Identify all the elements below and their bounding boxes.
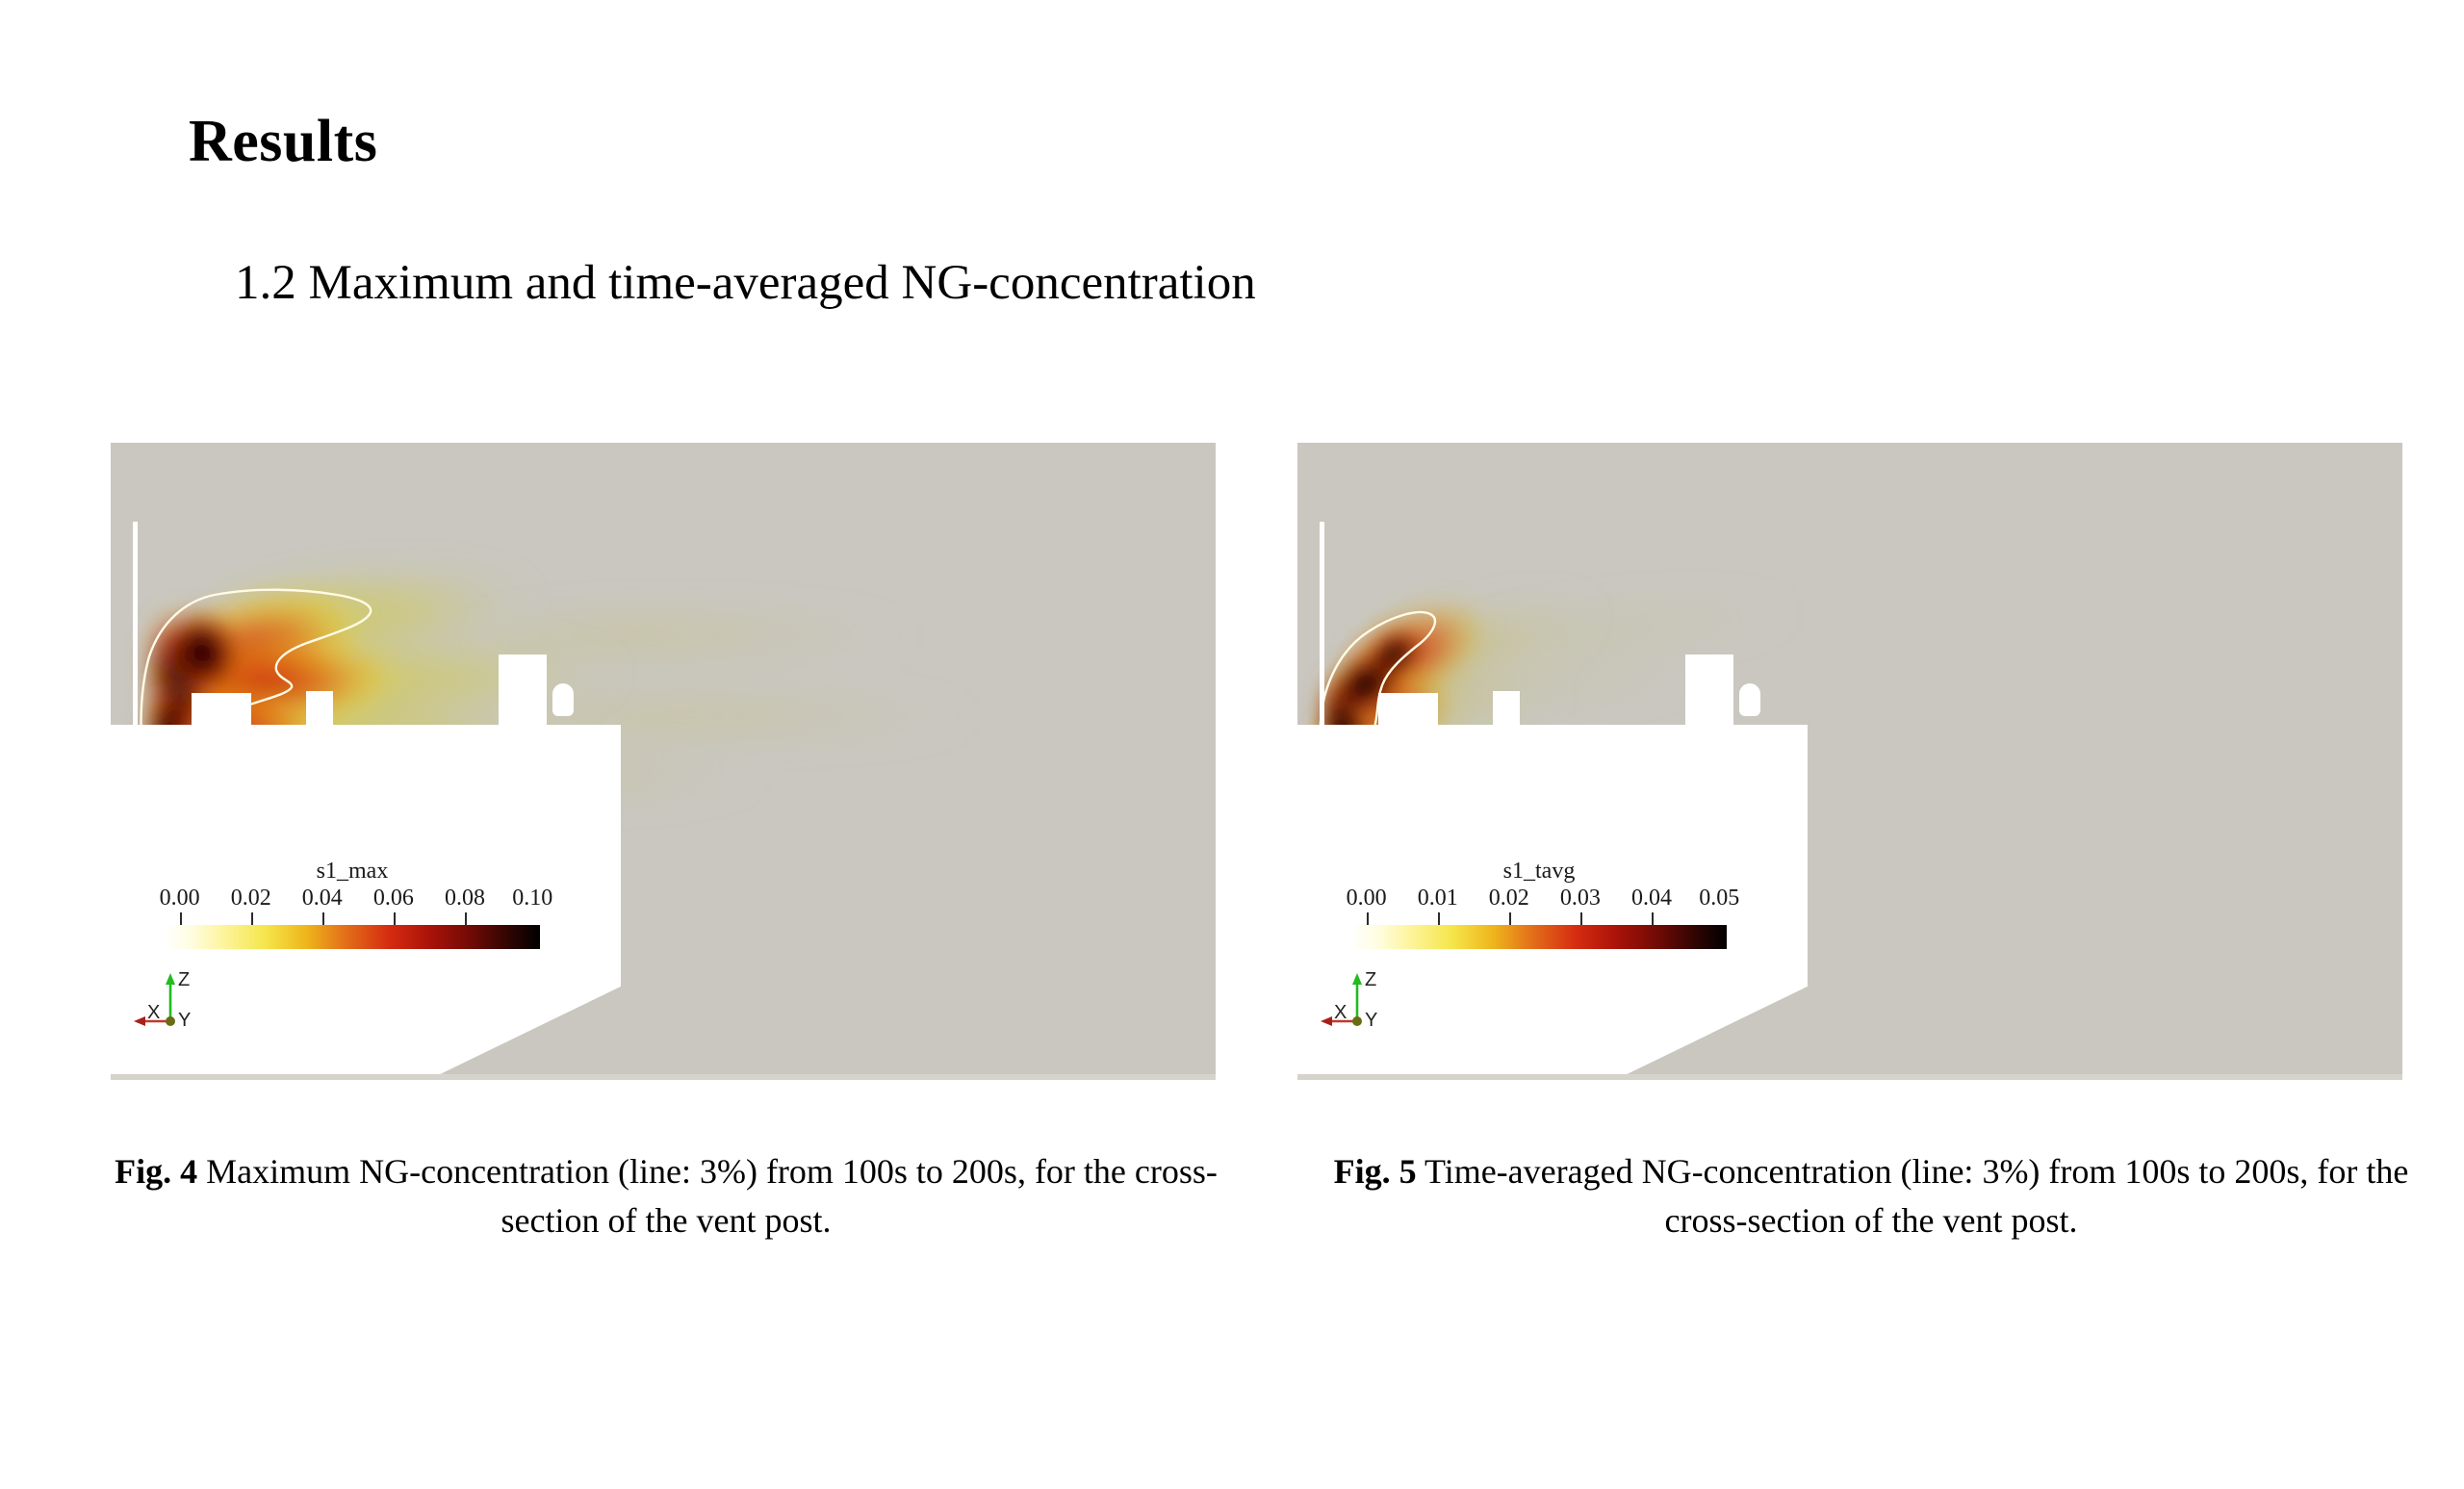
colorbar-tick (1580, 912, 1582, 925)
colorbar-tick (1438, 912, 1440, 925)
figure-caption-text-left: Maximum NG-concentration (line: 3%) from… (197, 1152, 1218, 1240)
y-axis-label: Y (1365, 1010, 1377, 1032)
deck-hatch-right (1739, 683, 1760, 716)
orientation-axes-right: Z Y X (1315, 967, 1401, 1035)
time-averaged-ng-concentration-figure: s1_tavg 0.00 0.01 0.02 0.03 0.04 0.05 (1297, 443, 2402, 1080)
colorbar-ticklabel: 0.08 (445, 886, 485, 911)
deck-structure-b-right (1493, 691, 1520, 728)
figure-caption-text-right: Time-averaged NG-concentration (line: 3%… (1417, 1152, 2409, 1240)
colorbar-tick (180, 912, 182, 925)
colorbar-ticklabel: 0.04 (302, 886, 343, 911)
axes-triad-svg-left (128, 967, 215, 1035)
colorbar-title-left: s1_max (165, 859, 540, 885)
colorbar-tick (465, 912, 467, 925)
colorbar-ticklabel: 0.00 (160, 886, 200, 911)
colorbar-tick (1509, 912, 1511, 925)
deck-structure-b-left (306, 691, 333, 728)
colorbar-ticklabel: 0.06 (373, 886, 414, 911)
y-axis-origin-dot (166, 1016, 175, 1026)
y-axis-origin-dot (1352, 1016, 1362, 1026)
y-axis-label: Y (178, 1010, 191, 1032)
deck-structure-c-right (1685, 655, 1733, 728)
deck-structure-a-right (1378, 693, 1438, 728)
x-axis-arrow (1321, 1016, 1332, 1026)
colorbar-ticklabel: 0.03 (1560, 886, 1601, 911)
maximum-ng-concentration-figure: s1_max 0.00 0.02 0.04 0.06 0.08 0.10 (111, 443, 1216, 1080)
deck-structure-a-left (192, 693, 251, 728)
colorbar-ticklabel: 0.02 (1489, 886, 1529, 911)
bottom-edge-strip-left (111, 1074, 1216, 1080)
figure-caption-prefix-left: Fig. 4 (115, 1152, 197, 1191)
colorbar-ticklabel: 0.10 (512, 886, 552, 911)
z-axis-label: Z (1365, 969, 1376, 991)
bottom-edge-strip-right (1297, 1074, 2402, 1080)
colorbar-gradient-left (165, 925, 540, 949)
colorbar-ticklabels-left: 0.00 0.02 0.04 0.06 0.08 0.10 (165, 886, 540, 911)
x-axis-label: X (147, 1002, 160, 1024)
colorbar-title-right: s1_tavg (1351, 859, 1727, 885)
colorbar-ticks-right (1351, 912, 1727, 925)
visualization-canvas-right: s1_tavg 0.00 0.01 0.02 0.03 0.04 0.05 (1297, 443, 2402, 1080)
visualization-canvas-left: s1_max 0.00 0.02 0.04 0.06 0.08 0.10 (111, 443, 1216, 1080)
page-title: Results (189, 108, 377, 176)
figure-caption-right: Fig. 5 Time-averaged NG-concentration (l… (1317, 1147, 2425, 1245)
section-heading: 1.2 Maximum and time-averaged NG-concent… (235, 255, 1256, 311)
x-axis-arrow (134, 1016, 145, 1026)
z-axis-arrow (166, 973, 175, 985)
figure-caption-left: Fig. 4 Maximum NG-concentration (line: 3… (104, 1147, 1228, 1245)
colorbar-gradient-right (1351, 925, 1727, 949)
deck-structure-c-left (499, 655, 547, 728)
axes-triad-svg-right (1315, 967, 1401, 1035)
figure-caption-prefix-right: Fig. 5 (1334, 1152, 1417, 1191)
colorbar-tick (394, 912, 396, 925)
colorbar-tick (251, 912, 253, 925)
colorbar-tick (1652, 912, 1654, 925)
colorbar-tick (322, 912, 324, 925)
colorbar-ticklabel: 0.05 (1699, 886, 1739, 911)
vent-post-right (1320, 522, 1324, 729)
vent-post-left (133, 522, 138, 729)
colorbar-ticks-left (165, 912, 540, 925)
colorbar-ticklabel: 0.04 (1631, 886, 1672, 911)
colorbar-ticklabel: 0.00 (1347, 886, 1387, 911)
x-axis-label: X (1334, 1002, 1347, 1024)
deck-hatch-left (552, 683, 574, 716)
orientation-axes-left: Z Y X (128, 967, 215, 1035)
colorbar-ticklabel: 0.02 (231, 886, 271, 911)
colorbar-ticklabels-right: 0.00 0.01 0.02 0.03 0.04 0.05 (1351, 886, 1727, 911)
colorbar-ticklabel: 0.01 (1418, 886, 1458, 911)
z-axis-arrow (1352, 973, 1362, 985)
colorbar-tick (1367, 912, 1369, 925)
z-axis-label: Z (178, 969, 190, 991)
